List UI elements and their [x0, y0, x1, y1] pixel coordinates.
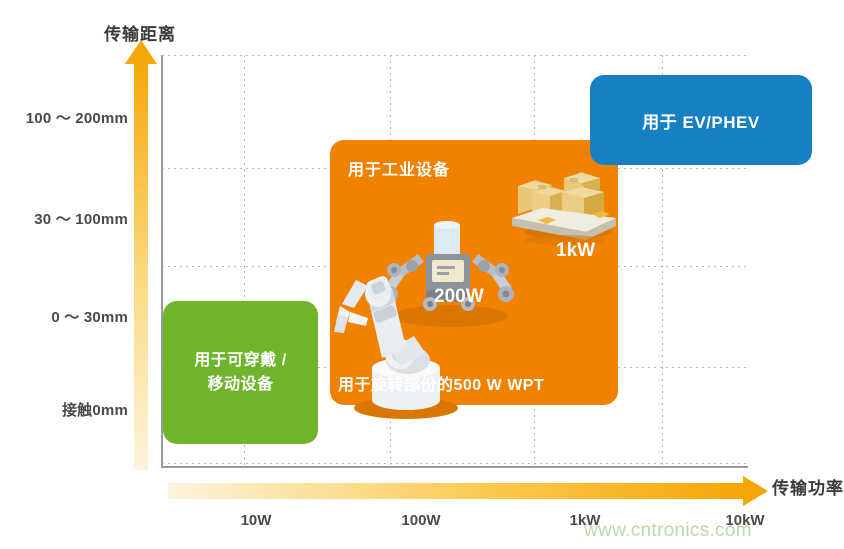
y-tick-label: 接触0mm: [62, 399, 128, 420]
region-industrial-equipment[interactable]: 用于工业设备: [330, 140, 618, 405]
annotation-200w: 200W: [434, 286, 484, 308]
watermark: www.cntronics.com: [584, 520, 752, 542]
right-arrow-icon: [168, 476, 768, 506]
y-tick-label: 30 ～ 100mm: [34, 208, 128, 229]
gridline-horizontal: [162, 463, 748, 464]
region-wearable-label-line2: 移动设备: [194, 373, 286, 397]
conveyor-belt-icon: [512, 162, 616, 246]
annotation-1kw: 1kW: [556, 240, 595, 262]
y-tick-label: 0 ～ 30mm: [51, 306, 128, 327]
region-ev-phev[interactable]: 用于 EV/PHEV: [590, 75, 812, 165]
region-wearable-label: 用于可穿戴 / 移动设备: [194, 349, 286, 397]
region-wearable-label-line1: 用于可穿戴 /: [194, 349, 286, 373]
region-ev-label: 用于 EV/PHEV: [642, 108, 759, 133]
region-industrial-title: 用于工业设备: [348, 156, 450, 180]
up-arrow-icon: [125, 40, 157, 470]
annotation-rotary-wpt: 用于旋转部份的500 W WPT: [338, 371, 544, 395]
x-tick-label: 10W: [241, 512, 272, 529]
gridline-horizontal: [162, 55, 748, 56]
wpt-application-chart: 传输距离 传输功率: [0, 0, 844, 549]
region-wearable-mobile[interactable]: 用于可穿戴 / 移动设备: [163, 301, 318, 444]
x-tick-label: 100W: [401, 512, 440, 529]
y-tick-label: 100 ～ 200mm: [26, 107, 128, 128]
x-axis-title: 传输功率: [772, 474, 844, 499]
